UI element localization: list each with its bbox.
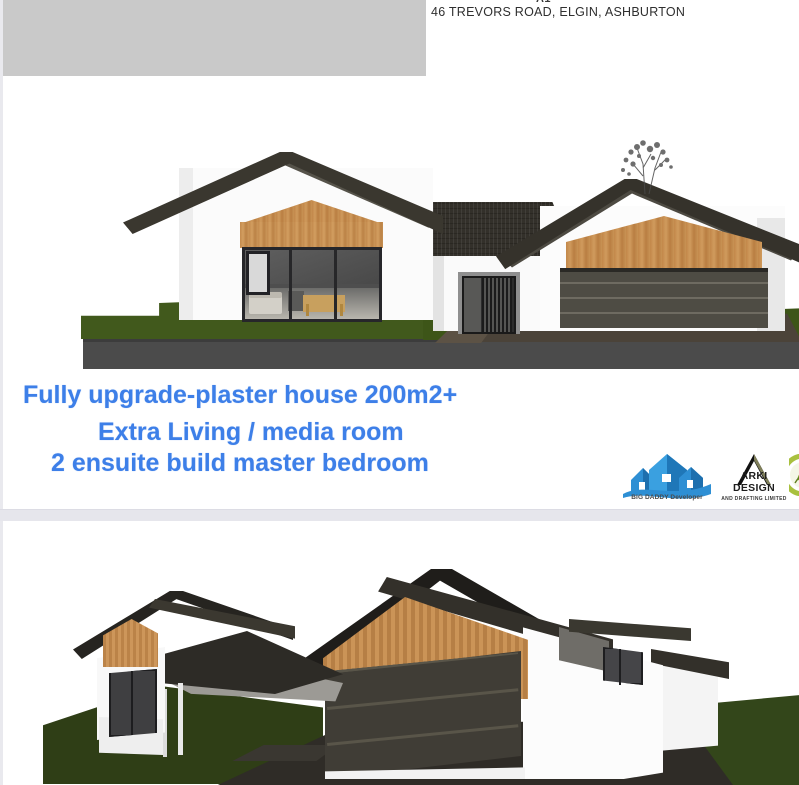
leaf-circle-icon <box>789 454 799 496</box>
road-strip <box>83 342 799 369</box>
garage-door-line <box>560 297 768 299</box>
interior-table-leg <box>306 304 309 316</box>
living-timber-band <box>240 222 383 248</box>
living-wing-wall-shadow <box>179 168 193 320</box>
garage-door-head <box>560 268 768 272</box>
window-mullion <box>289 248 292 320</box>
render-panel-bottom <box>0 521 799 785</box>
front-elevation-render <box>3 76 799 366</box>
porch-post <box>178 683 183 755</box>
title-band <box>3 0 426 76</box>
arki-design-logo: ARKI DESIGN AND DRAFTING LIMITED <box>719 452 789 502</box>
promo-line-3: 2 ensuite build master bedroom <box>51 449 429 478</box>
entry-sidelight <box>464 278 481 332</box>
logo-strip: BIG DADDY Developer ARKI DESIGN AND DRAF… <box>621 448 799 506</box>
side-window <box>603 647 643 685</box>
window-mullion <box>334 248 337 320</box>
flyer-page: Home and land package 4 bedrooms 2 livin… <box>0 0 799 785</box>
entry-wall-shadow <box>433 256 444 331</box>
living-slider-glazing <box>109 669 157 737</box>
big-daddy-developer-logo: BIG DADDY Developer <box>621 450 713 502</box>
street-perspective-render <box>3 521 799 785</box>
arki-caption-bottom: AND DRAFTING LIMITED <box>719 496 789 502</box>
green-certification-badge <box>789 454 799 496</box>
entry-door-slats <box>482 278 512 332</box>
small-window <box>246 251 270 295</box>
living-timber-gable <box>103 619 158 667</box>
side-window-mullion <box>619 649 621 685</box>
tree-silhouette <box>593 134 713 194</box>
window-mullion <box>131 671 133 735</box>
arki-caption-top: ARKI DESIGN <box>719 470 789 494</box>
render-panel-top: Home and land package 4 bedrooms 2 livin… <box>0 0 799 509</box>
garage-door-line <box>560 282 768 284</box>
promo-line-1: Fully upgrade-plaster house 200m2+ <box>23 381 457 410</box>
interior-table <box>303 295 345 312</box>
promo-line-2: Extra Living / media room <box>98 418 404 447</box>
garage-door-line <box>560 312 768 314</box>
interior-table-leg <box>340 304 343 316</box>
big-daddy-caption: BIG DADDY Developer <box>621 494 713 501</box>
property-address: 46 TREVORS ROAD, ELGIN, ASHBURTON <box>431 5 685 19</box>
